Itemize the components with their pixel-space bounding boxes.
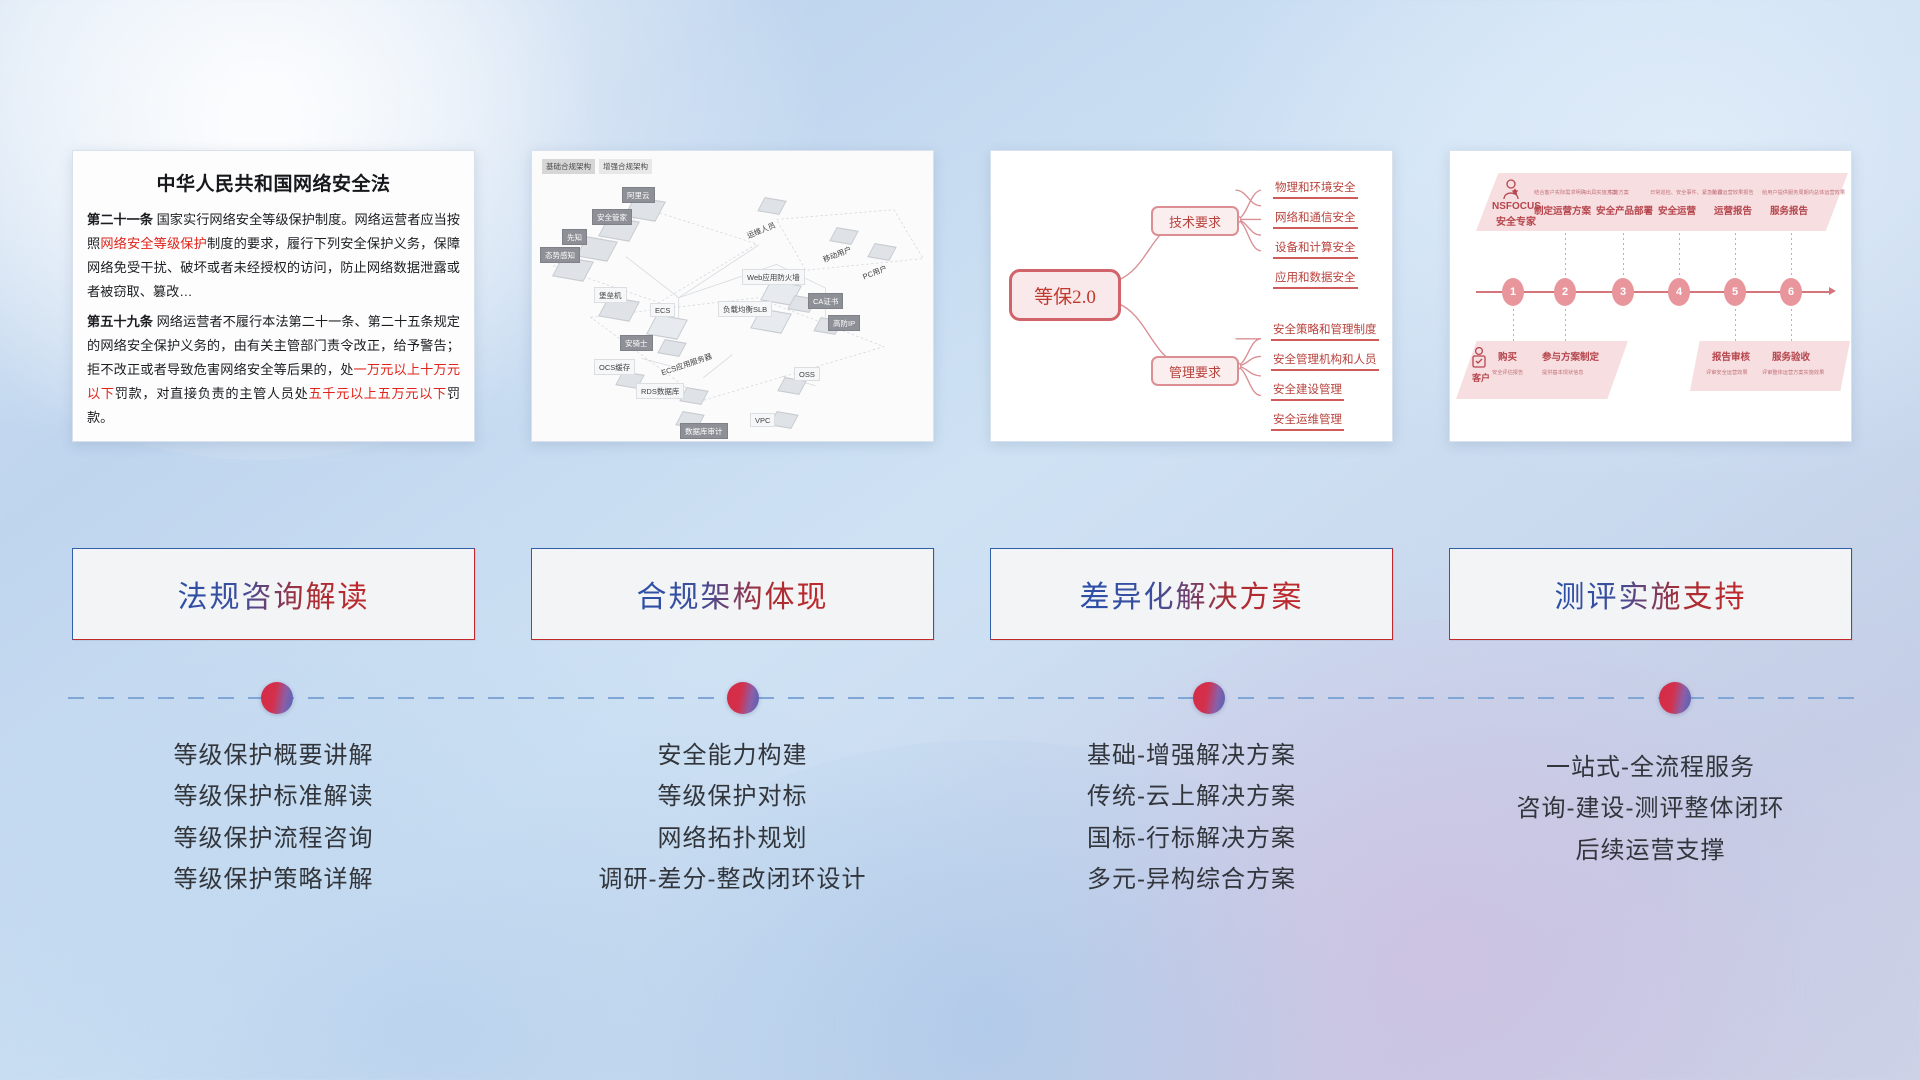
timeline-customer-label: 报告审核 [1712,349,1750,363]
timeline-provider-sub: 阶段运营效果报告 [1712,189,1754,196]
mindmap-branch-management: 管理要求 [1151,356,1239,386]
mindmap-branch-technical: 技术要求 [1151,206,1239,236]
rail-dot-4 [1659,682,1691,714]
customer-name: 客户 [1472,371,1490,384]
timeline-customer-sub: 安全评估报告 [1492,369,1523,376]
customer-icon [1470,347,1488,369]
expert-icon [1502,179,1520,199]
mindmap-leaf: 安全策略和管理制度 [1271,321,1379,341]
list-item: 传统-云上解决方案 [990,776,1393,817]
list-item: 等级保护策略详解 [72,859,475,900]
rail-dot-2 [727,682,759,714]
process-timeline-card: NSFOCUS 安全专家 客户 1 购买 安全评估报告 2 制定运营方案 结合客… [1449,150,1852,442]
rail-dot-1 [261,682,293,714]
headline-label: 法规咨询解读 [178,572,370,616]
arch-node-security-butler: 安全管家 [592,209,632,225]
service-list-compliance-architecture: 安全能力构建 等级保护对标 网络拓扑规划 调研-差分-整改闭环设计 [531,735,934,900]
provider-role: 安全专家 [1496,213,1536,228]
mindmap-root-node: 等保2.0 [1009,269,1121,321]
arch-node-situation-awareness: 态势感知 [540,247,580,263]
timeline-step-node: 6 [1780,278,1802,306]
timeline-connector [1565,309,1566,343]
law-run: 罚款，对直接负责的主管人员处 [115,386,309,401]
timeline-connector [1735,309,1736,343]
timeline-connector [1735,233,1736,275]
arch-node-vpc: VPC [750,413,775,427]
mindmap-leaf: 网络和通信安全 [1273,209,1358,229]
timeline-provider-sub: 实施方案 [1608,189,1629,196]
law-run-highlight: 五千元以上五万元以下 [308,386,446,401]
timeline-connector [1623,233,1624,275]
timeline-step-node: 1 [1502,278,1524,306]
list-item: 网络拓扑规划 [531,818,934,859]
headline-box-evaluation-support[interactable]: 测评实施支持 [1449,548,1852,640]
arch-node-db-audit: 数据库审计 [680,423,728,439]
arch-node-rds: RDS数据库 [636,383,684,399]
list-item: 等级保护流程咨询 [72,818,475,859]
timeline-customer-label: 购买 [1498,349,1517,363]
headline-box-differentiated-solution[interactable]: 差异化解决方案 [990,548,1393,640]
architecture-diagram-card: 基础合规架构 增强合规架构 [531,150,934,442]
timeline-provider-label: 运营报告 [1714,203,1752,217]
law-article-number: 第二十一条 [87,212,153,227]
arch-node-oss: OSS [794,367,820,381]
rail-dot-3 [1193,682,1225,714]
arch-node-bastion-host: 堡垒机 [594,287,627,303]
architecture-canvas: 基础合规架构 增强合规架构 [532,151,933,441]
timeline-provider-sub: 结合客户实际需求明确出具实施方案 [1534,189,1617,196]
law-paragraph: 第二十一条 国家实行网络安全等级保护制度。网络运营者应当按照网络安全等级保护制度… [87,208,460,304]
law-run-highlight: 网络安全等级保护 [100,236,207,251]
mindmap-leaf: 设备和计算安全 [1273,239,1358,259]
headline-label: 合规架构体现 [637,572,829,616]
timeline-step-node: 2 [1554,278,1576,306]
arch-node-ca-cert: CA证书 [808,293,843,309]
timeline-customer-label: 参与方案制定 [1542,349,1599,363]
mindmap-canvas: 等保2.0 技术要求 物理和环境安全 网络和通信安全 设备和计算安全 应用和数据… [991,151,1392,441]
law-document-card: 中华人民共和国网络安全法 第二十一条 国家实行网络安全等级保护制度。网络运营者应… [72,150,475,442]
timeline-step-node: 5 [1724,278,1746,306]
timeline-connector [1679,233,1680,275]
arch-node-anti-ddos-ip: 高防IP [828,315,860,331]
timeline-customer-sub: 评审安全运营效果 [1706,369,1748,376]
headline-label: 测评实施支持 [1555,572,1747,616]
mindmap-leaf: 安全建设管理 [1271,381,1344,401]
list-item: 基础-增强解决方案 [990,735,1393,776]
timeline-connector [1565,233,1566,275]
timeline-canvas: NSFOCUS 安全专家 客户 1 购买 安全评估报告 2 制定运营方案 结合客… [1450,151,1851,441]
list-item: 一站式-全流程服务 [1449,747,1852,788]
law-article-number: 第五十九条 [87,314,153,329]
timeline-connector [1791,233,1792,275]
arch-node-anqishi: 安骑士 [620,335,653,351]
headline-label: 差异化解决方案 [1080,572,1304,616]
timeline-step-node: 4 [1668,278,1690,306]
timeline-rail [68,697,1856,699]
headline-box-compliance-architecture[interactable]: 合规架构体现 [531,548,934,640]
law-body: 第二十一条 国家实行网络安全等级保护制度。网络运营者应当按照网络安全等级保护制度… [73,196,474,430]
timeline-provider-sub: 给用户提供服务周期内总体运营效果 [1762,189,1845,196]
list-item: 安全能力构建 [531,735,934,776]
arch-node-aliyun: 阿里云 [622,187,655,203]
timeline-connector [1791,309,1792,343]
mindmap-leaf: 安全运维管理 [1271,411,1344,431]
timeline-provider-label: 服务报告 [1770,203,1808,217]
service-list-differentiated-solution: 基础-增强解决方案 传统-云上解决方案 国标-行标解决方案 多元-异构综合方案 [990,735,1393,900]
list-item: 多元-异构综合方案 [990,859,1393,900]
timeline-customer-sub: 提供基本现状信息 [1542,369,1584,376]
mindmap-leaf: 物理和环境安全 [1273,179,1358,199]
arch-node-waf: Web应用防火墙 [742,269,805,285]
timeline-provider-label: 安全运营 [1658,203,1696,217]
headline-box-legal-consulting[interactable]: 法规咨询解读 [72,548,475,640]
arch-node-xianzhi: 先知 [562,229,587,245]
timeline-provider-label: 制定运营方案 [1534,203,1591,217]
mindmap-card: 等保2.0 技术要求 物理和环境安全 网络和通信安全 设备和计算安全 应用和数据… [990,150,1393,442]
list-item: 调研-差分-整改闭环设计 [531,859,934,900]
list-item: 等级保护概要讲解 [72,735,475,776]
law-title: 中华人民共和国网络安全法 [73,169,474,196]
timeline-customer-label: 服务验收 [1772,349,1810,363]
headline-row: 法规咨询解读 合规架构体现 差异化解决方案 测评实施支持 [72,548,1852,640]
service-list-evaluation-support: 一站式-全流程服务 咨询-建设-测评整体闭环 后续运营支撑 [1449,735,1852,900]
arch-node-ocs-cache: OCS缓存 [594,359,635,375]
list-item: 咨询-建设-测评整体闭环 [1449,788,1852,829]
timeline-arrow-icon [1829,287,1836,295]
service-list-row: 等级保护概要讲解 等级保护标准解读 等级保护流程咨询 等级保护策略详解 安全能力… [72,735,1852,900]
timeline-provider-label: 安全产品部署 [1596,203,1653,217]
timeline-connector [1513,309,1514,343]
timeline-customer-sub: 评审整体运营方案实施效果 [1762,369,1824,376]
list-item: 等级保护标准解读 [72,776,475,817]
list-item: 等级保护对标 [531,776,934,817]
service-list-legal-consulting: 等级保护概要讲解 等级保护标准解读 等级保护流程咨询 等级保护策略详解 [72,735,475,900]
arch-node-slb: 负载均衡SLB [718,301,772,317]
timeline-step-node: 3 [1612,278,1634,306]
list-item: 国标-行标解决方案 [990,818,1393,859]
arch-node-ecs: ECS [650,303,675,317]
mindmap-leaf: 应用和数据安全 [1273,269,1358,289]
mindmap-leaf: 安全管理机构和人员 [1271,351,1379,371]
architecture-connectors [532,151,933,437]
list-item: 后续运营支撑 [1449,830,1852,871]
illustration-card-row: 中华人民共和国网络安全法 第二十一条 国家实行网络安全等级保护制度。网络运营者应… [72,150,1852,442]
law-paragraph: 第五十九条 网络运营者不履行本法第二十一条、第二十五条规定的网络安全保护义务的，… [87,310,460,430]
timeline-axis [1476,291,1832,293]
